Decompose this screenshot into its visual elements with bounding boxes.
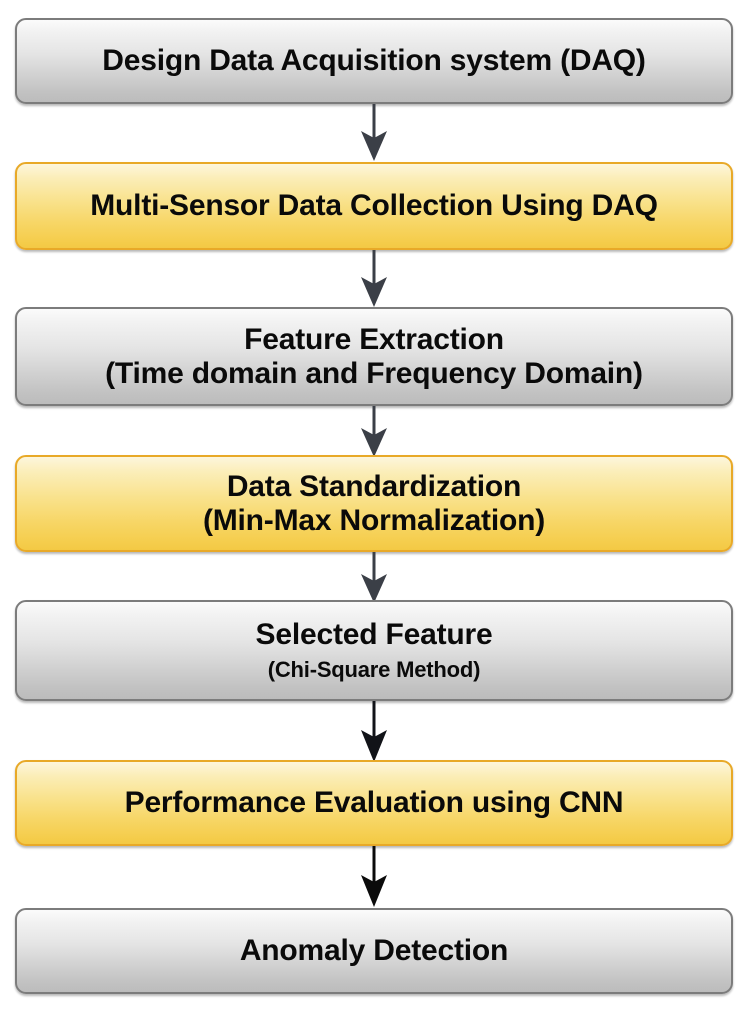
arrow-4 bbox=[354, 552, 394, 604]
arrow-5 bbox=[354, 701, 394, 763]
node-daq-design-line-1: Design Data Acquisition system (DAQ) bbox=[102, 44, 645, 78]
node-data-standardization: Data Standardization (Min-Max Normalizat… bbox=[15, 455, 733, 552]
node-anomaly-detection: Anomaly Detection bbox=[15, 908, 733, 994]
node-daq-design: Design Data Acquisition system (DAQ) bbox=[15, 18, 733, 104]
node-feature-extraction-line-1: Feature Extraction bbox=[244, 323, 504, 357]
node-selected-feature-line-2: (Chi-Square Method) bbox=[268, 658, 481, 683]
node-data-standardization-line-2: (Min-Max Normalization) bbox=[203, 504, 545, 538]
node-anomaly-detection-line-1: Anomaly Detection bbox=[240, 934, 508, 968]
down-arrow-icon bbox=[354, 104, 394, 162]
node-feature-extraction: Feature Extraction (Time domain and Freq… bbox=[15, 307, 733, 406]
arrow-1 bbox=[354, 104, 394, 162]
node-performance-evaluation: Performance Evaluation using CNN bbox=[15, 760, 733, 846]
down-arrow-icon bbox=[354, 701, 394, 763]
node-selected-feature-line-1: Selected Feature bbox=[256, 618, 493, 652]
node-performance-evaluation-line-1: Performance Evaluation using CNN bbox=[125, 786, 624, 820]
node-feature-extraction-line-2: (Time domain and Frequency Domain) bbox=[105, 357, 643, 391]
node-data-collection: Multi-Sensor Data Collection Using DAQ bbox=[15, 162, 733, 250]
arrow-2 bbox=[354, 250, 394, 308]
arrow-6 bbox=[354, 846, 394, 908]
down-arrow-icon bbox=[354, 552, 394, 604]
node-data-collection-line-1: Multi-Sensor Data Collection Using DAQ bbox=[90, 189, 657, 223]
down-arrow-icon bbox=[354, 406, 394, 458]
flowchart-diagram: Design Data Acquisition system (DAQ) Mul… bbox=[0, 0, 748, 1020]
down-arrow-icon bbox=[354, 250, 394, 308]
node-selected-feature: Selected Feature (Chi-Square Method) bbox=[15, 600, 733, 701]
node-data-standardization-line-1: Data Standardization bbox=[227, 470, 521, 504]
down-arrow-icon bbox=[354, 846, 394, 908]
arrow-3 bbox=[354, 406, 394, 458]
